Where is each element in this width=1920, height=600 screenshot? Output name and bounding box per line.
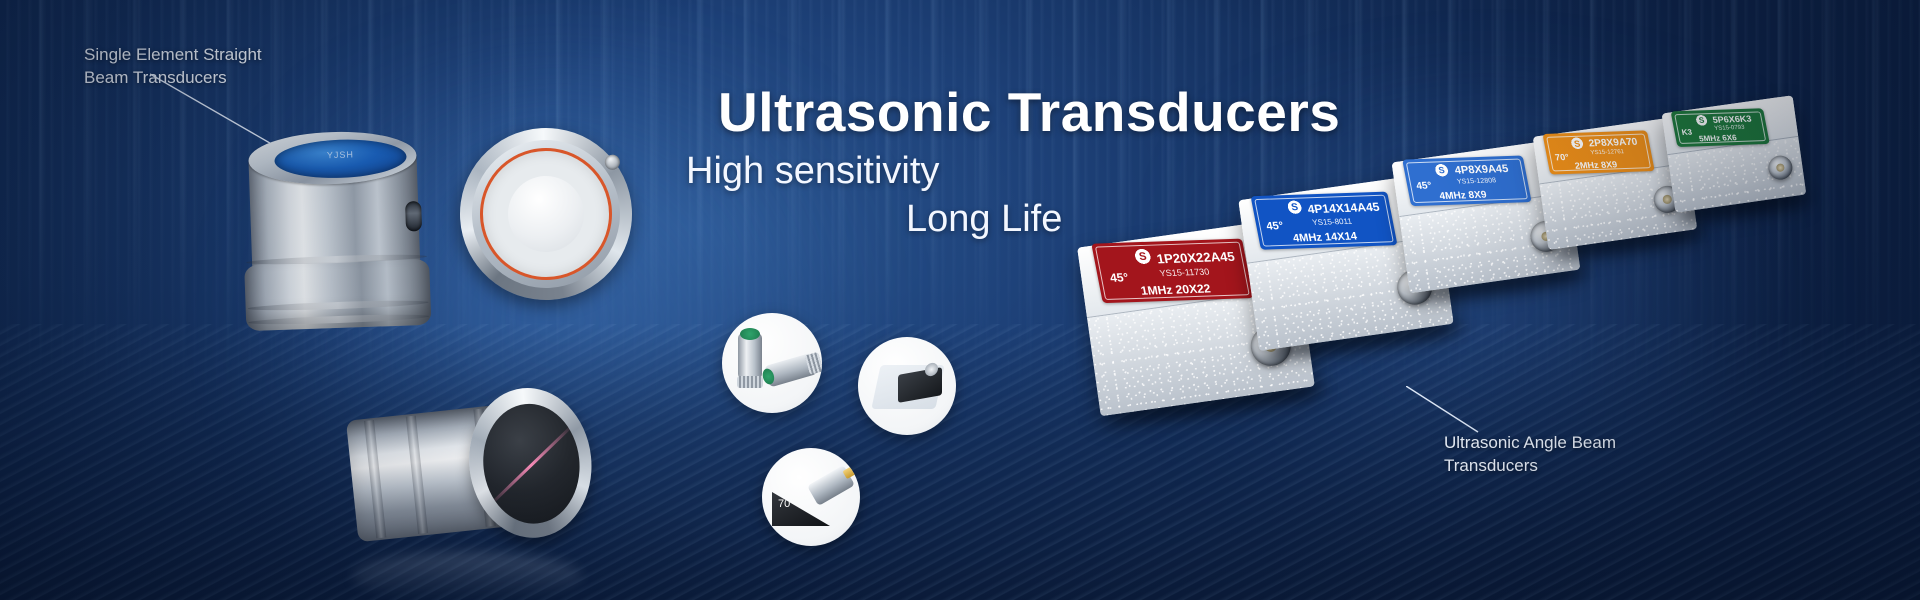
cylinder-blue-face: YJSH bbox=[274, 137, 407, 180]
green-cap-icon bbox=[761, 367, 776, 385]
nameplate-spec: 2MHz 8X9 bbox=[1574, 159, 1618, 170]
nameplate-serial: YS15-12761 bbox=[1590, 149, 1625, 156]
knurled-base bbox=[737, 376, 763, 388]
subtitle-long-life: Long Life bbox=[906, 198, 1062, 241]
miniature-probe-vertical bbox=[738, 333, 762, 379]
straight-beam-transducer-disc bbox=[449, 117, 643, 311]
probe-nameplate: S 2P8X9A70 YS15-12761 70° 2MHz 8X9 bbox=[1542, 130, 1654, 174]
brand-logo-icon: S bbox=[1133, 248, 1153, 265]
nameplate-serial: YS15-8011 bbox=[1311, 217, 1352, 227]
nameplate-serial: YS15-11730 bbox=[1159, 267, 1210, 279]
nameplate-model: 1P20X22A45 bbox=[1155, 249, 1236, 266]
brand-logo-icon: S bbox=[1286, 200, 1304, 215]
page-title: Ultrasonic Transducers bbox=[718, 80, 1340, 144]
angle-beam-probe-5: S 5P6X6K3 YS15-0793 K3 5MHz 6X6 bbox=[1662, 95, 1807, 212]
brand-logo-icon: S bbox=[1433, 163, 1450, 177]
wedge-angle-label: 70° bbox=[778, 498, 795, 510]
brand-logo-icon: S bbox=[1694, 114, 1708, 126]
nameplate-spec: 5MHz 6X6 bbox=[1698, 133, 1737, 143]
brand-logo-letter: S bbox=[1695, 116, 1709, 125]
nameplate-spec: 4MHz 8X9 bbox=[1439, 190, 1488, 202]
threaded-connector bbox=[805, 352, 822, 375]
thumbnail-contact-block-transducer bbox=[858, 337, 956, 435]
straight-beam-transducer-cylinder: YJSH bbox=[240, 127, 432, 333]
probe-pin bbox=[842, 466, 856, 479]
dual-split-line bbox=[489, 424, 574, 506]
nameplate-angle: 70° bbox=[1554, 152, 1570, 162]
nameplate-angle: K3 bbox=[1681, 128, 1693, 137]
thumbnail-angle-wedge-transducer: 70° bbox=[762, 448, 860, 546]
wedge-probe-body bbox=[807, 465, 855, 506]
probe-nameplate: S 4P8X9A45 YS15-12808 45° 4MHz 8X9 bbox=[1402, 156, 1531, 207]
nameplate-model: 2P8X9A70 bbox=[1588, 137, 1639, 150]
probe-nameplate: S 4P14X14A45 YS15-8011 45° 4MHz 14X14 bbox=[1251, 192, 1398, 250]
dual-element-transducer bbox=[344, 378, 600, 567]
miniature-probe-horizontal bbox=[764, 353, 818, 388]
subtitle-high-sensitivity: High sensitivity bbox=[686, 150, 939, 193]
probe-nameplate: S 1P20X22A45 YS15-11730 45° 1MHz 20X22 bbox=[1091, 239, 1253, 304]
brand-logo-letter: S bbox=[1570, 138, 1585, 148]
nameplate-model: 4P8X9A45 bbox=[1454, 163, 1510, 177]
brand-logo-icon: S bbox=[1569, 137, 1585, 150]
nameplate-angle: 45° bbox=[1415, 181, 1432, 192]
nameplate-serial: YS15-12808 bbox=[1456, 177, 1496, 185]
nameplate-angle: 45° bbox=[1265, 220, 1284, 232]
disc-element-face bbox=[503, 171, 589, 257]
nameplate-model: 5P6X6K3 bbox=[1712, 114, 1753, 125]
nameplate-model: 4P14X14A45 bbox=[1306, 200, 1380, 216]
nameplate-spec: 4MHz 14X14 bbox=[1292, 231, 1358, 245]
brand-logo-letter: S bbox=[1133, 250, 1152, 262]
brand-logo-letter: S bbox=[1286, 202, 1303, 213]
probe-nameplate: S 5P6X6K3 YS15-0793 K3 5MHz 6X6 bbox=[1671, 108, 1770, 147]
callout-angle-beam: Ultrasonic Angle Beam Transducers bbox=[1444, 432, 1616, 478]
probe-connector bbox=[925, 362, 938, 377]
dual-wear-face bbox=[477, 399, 585, 528]
ultrasonic-transducers-banner: Single Element Straight Beam Transducers… bbox=[0, 0, 1920, 600]
cylinder-connector-port bbox=[405, 201, 422, 232]
nameplate-angle: 45° bbox=[1109, 270, 1130, 284]
nameplate-spec: 1MHz 20X22 bbox=[1140, 282, 1212, 298]
callout-straight-beam: Single Element Straight Beam Transducers bbox=[84, 44, 262, 90]
cylinder-face-label: YJSH bbox=[274, 147, 406, 162]
thumbnail-miniature-transducer-pair bbox=[722, 313, 822, 413]
nameplate-serial: YS15-0793 bbox=[1714, 125, 1745, 132]
brand-logo-letter: S bbox=[1434, 165, 1450, 175]
background-diagonal-floor bbox=[0, 324, 1920, 600]
green-cap-icon bbox=[740, 328, 760, 340]
